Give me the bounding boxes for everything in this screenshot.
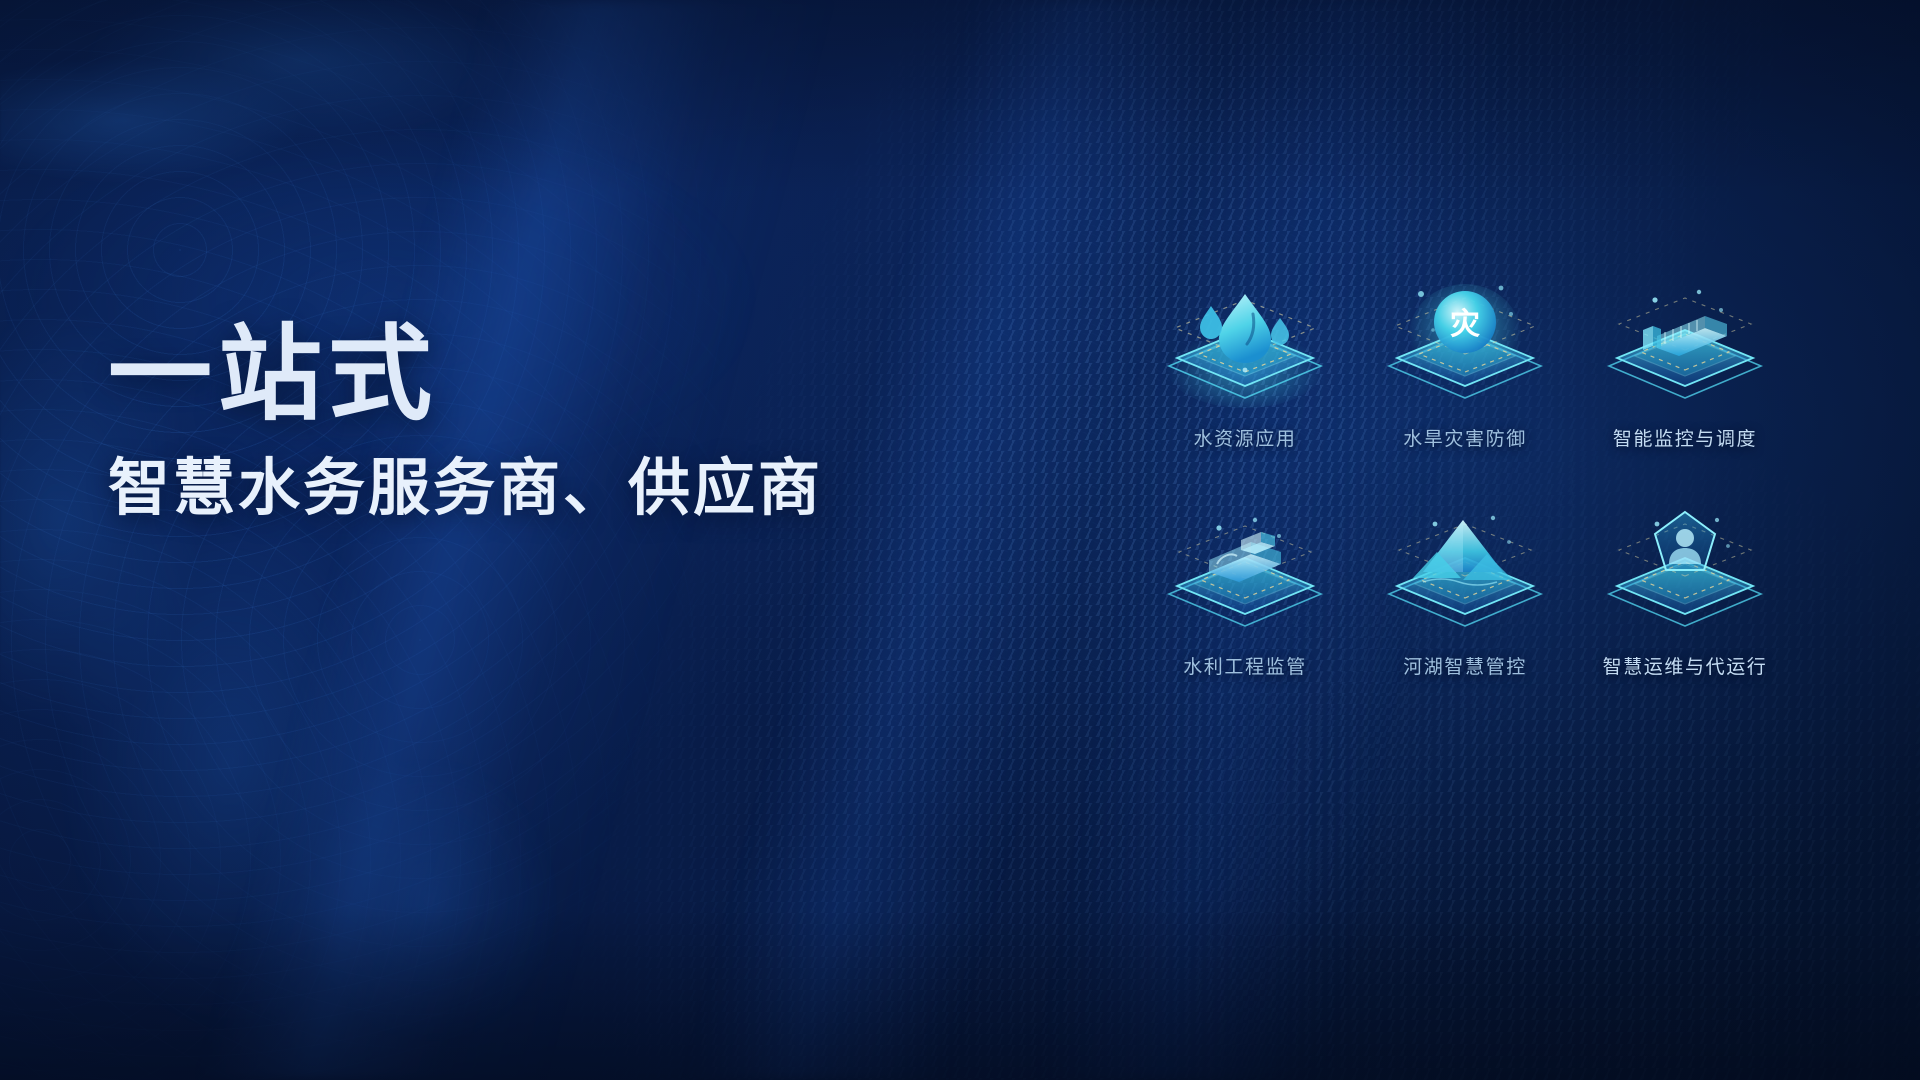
page-title: 一站式 [108,320,968,430]
service-item-label: 水资源应用 [1193,424,1296,451]
dam-control-platform-icon [1595,270,1775,420]
service-item-flood-drought-defense[interactable]: 灾 水旱灾害防御 [1355,270,1575,498]
service-item-water-resource[interactable]: 水资源应用 [1135,270,1355,498]
disaster-sphere-platform-icon: 灾 [1375,270,1555,420]
service-item-river-lake-management[interactable]: 河湖智慧管控 [1355,498,1575,726]
page-subtitle: 智慧水务服务商、供应商 [108,452,968,525]
service-item-smart-monitoring-dispatch[interactable]: 智能监控与调度 [1575,270,1795,498]
water-drop-platform-icon [1155,270,1335,420]
service-item-label: 水旱灾害防御 [1403,424,1527,451]
service-item-smart-ops-outsourcing[interactable]: 智慧运维与代运行 [1575,498,1795,726]
hero-slide: 一站式 智慧水务服务商、供应商 [0,0,1920,1080]
river-lake-mountain-platform-icon [1375,498,1555,648]
service-item-label: 智能监控与调度 [1613,424,1757,451]
service-item-label: 河湖智慧管控 [1403,652,1527,679]
service-item-label: 水利工程监管 [1183,652,1307,679]
service-item-label: 智慧运维与代运行 [1603,652,1768,679]
service-item-water-works-supervision[interactable]: 水利工程监管 [1135,498,1355,726]
reservoir-works-platform-icon [1155,498,1335,648]
service-icon-grid: 水资源应用 [1135,270,1795,726]
shield-operator-platform-icon [1595,498,1775,648]
disaster-glyph: 灾 [1450,307,1480,342]
headline-block: 一站式 智慧水务服务商、供应商 [108,320,968,525]
